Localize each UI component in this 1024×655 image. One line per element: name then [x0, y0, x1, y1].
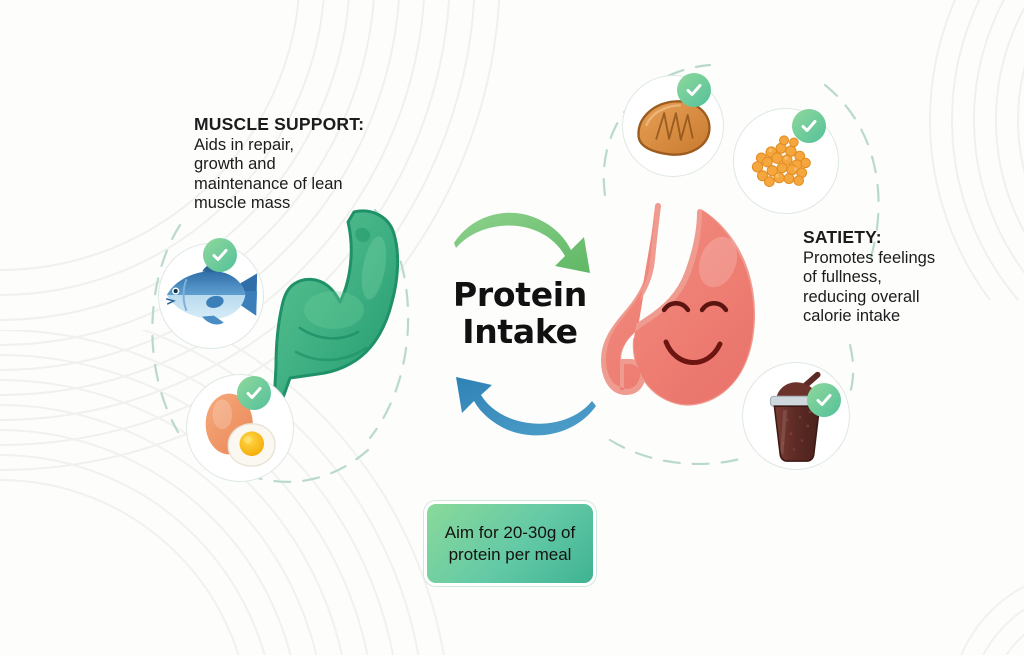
check-icon: [814, 390, 834, 410]
infographic-canvas: MUSCLE SUPPORT: Aids in repair, growth a…: [0, 0, 1024, 655]
satiety-body: Promotes feelings of fullness, reducing …: [803, 249, 1008, 326]
check-icon: [244, 383, 264, 403]
food-bubble-lentils[interactable]: [733, 108, 839, 214]
satiety-text-block: SATIETY: Promotes feelings of fullness, …: [803, 227, 1008, 326]
check-badge-almond: [677, 73, 711, 107]
food-bubble-almond[interactable]: [622, 75, 724, 177]
muscle-support-heading: MUSCLE SUPPORT:: [194, 114, 394, 135]
check-icon: [210, 245, 230, 265]
check-badge-egg: [237, 376, 271, 410]
page-title: Protein Intake: [430, 277, 610, 351]
food-bubble-egg[interactable]: [186, 374, 294, 482]
muscle-support-body: Aids in repair, growth and maintenance o…: [194, 136, 394, 213]
check-icon: [799, 116, 819, 136]
check-icon: [684, 80, 704, 100]
satiety-heading: SATIETY:: [803, 227, 1008, 248]
muscle-support-text-block: MUSCLE SUPPORT: Aids in repair, growth a…: [194, 114, 394, 213]
check-badge-lentils: [792, 109, 826, 143]
background-arcs-bottom-right: [880, 500, 1024, 655]
arrow-muscle-to-stomach-icon: [452, 207, 598, 279]
aim-badge-text: Aim for 20-30g of protein per meal: [445, 522, 575, 565]
check-badge-fish: [203, 238, 237, 272]
food-bubble-fish[interactable]: [158, 243, 264, 349]
aim-for-protein-badge: Aim for 20-30g of protein per meal: [424, 501, 596, 586]
food-bubble-protein-shake[interactable]: [742, 362, 850, 470]
arrow-stomach-to-muscle-icon: [446, 368, 598, 442]
check-badge-protein-shake: [807, 383, 841, 417]
protein-shake-icon: [743, 363, 849, 469]
